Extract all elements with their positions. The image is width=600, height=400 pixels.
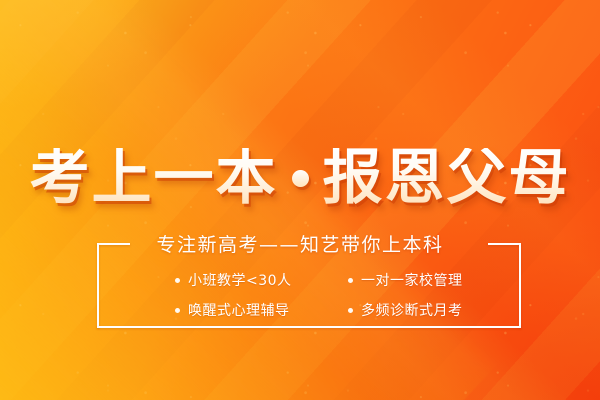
headline: 考上一本 报恩父母 xyxy=(0,140,600,216)
bullet-icon xyxy=(348,278,353,283)
feature-item: 多频诊断式月考 xyxy=(348,296,463,324)
headline-left-text: 考上一本 xyxy=(30,148,278,208)
bullet-icon xyxy=(175,278,180,283)
bullet-icon xyxy=(175,308,180,313)
promo-banner: 考上一本 报恩父母 专注新高考——知艺带你上本科 小班教学<30人 一对一家校管… xyxy=(0,0,600,400)
subtitle-text: 专注新高考——知艺带你上本科 xyxy=(146,230,453,257)
feature-label: 小班教学<30人 xyxy=(188,270,292,290)
frame-bottom-edge xyxy=(97,326,521,328)
feature-label: 一对一家校管理 xyxy=(361,270,463,290)
feature-item: 唤醒式心理辅导 xyxy=(175,296,290,324)
feature-label: 唤醒式心理辅导 xyxy=(188,300,290,320)
bullet-icon xyxy=(348,308,353,313)
feature-item: 一对一家校管理 xyxy=(348,266,463,294)
feature-item: 小班教学<30人 xyxy=(175,266,292,294)
dot-separator-icon xyxy=(292,170,309,187)
subtitle: 专注新高考——知艺带你上本科 xyxy=(0,229,600,257)
headline-right-text: 报恩父母 xyxy=(323,148,571,208)
feature-label: 多频诊断式月考 xyxy=(361,300,463,320)
feature-list: 小班教学<30人 一对一家校管理 唤醒式心理辅导 多频诊断式月考 xyxy=(97,266,521,324)
